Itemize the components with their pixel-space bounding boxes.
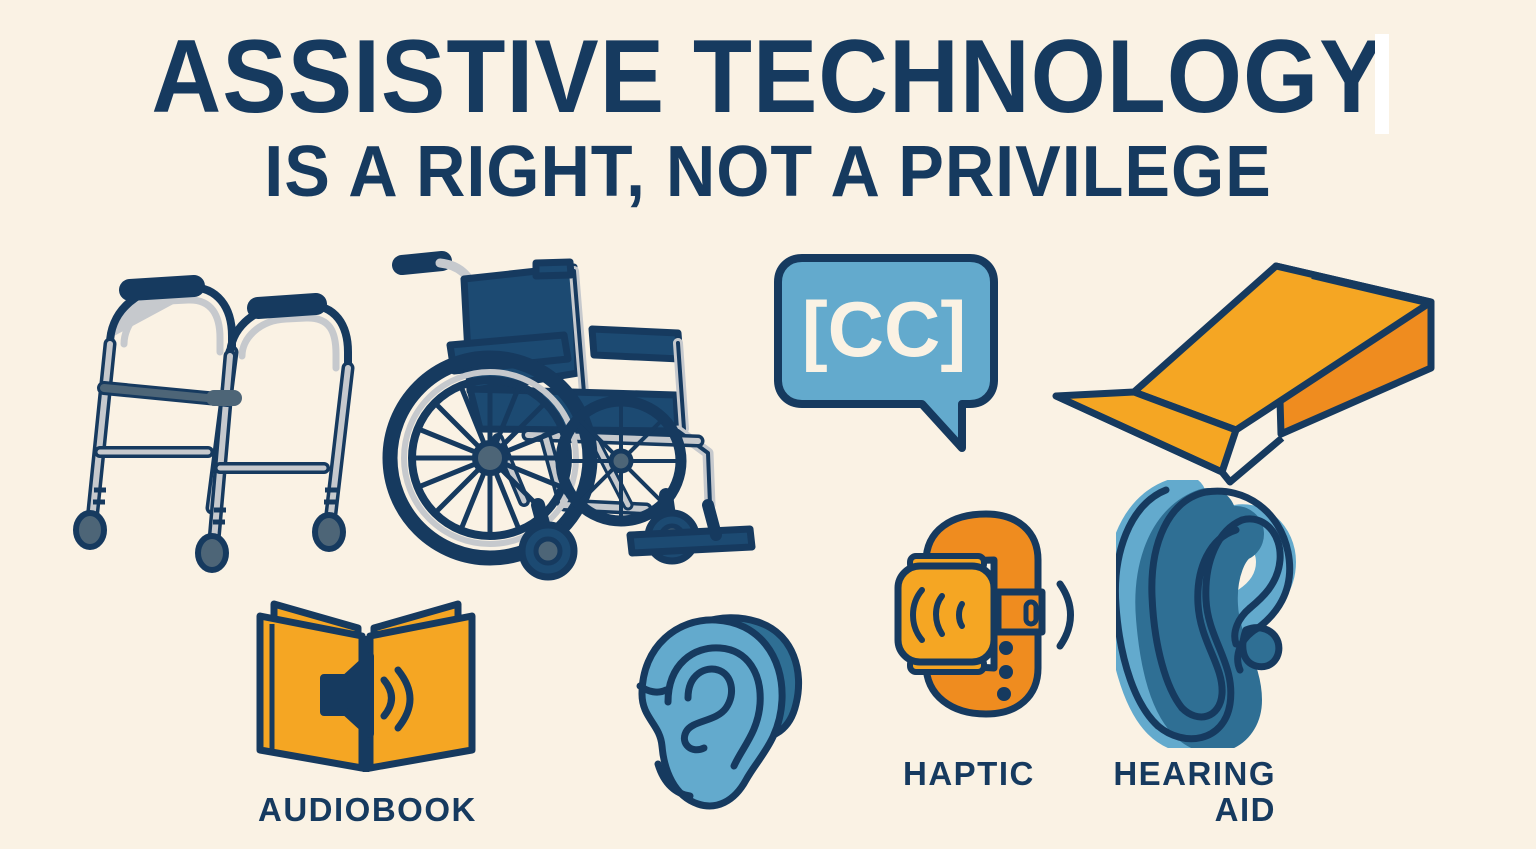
- audiobook-label: AUDIOBOOK: [258, 792, 477, 828]
- text-cursor-bar: [1375, 34, 1389, 134]
- audiobook-icon: [252, 582, 480, 782]
- wheelchair-icon: [378, 243, 778, 598]
- headline-sub-line: IS A RIGHT, NOT A PRIVILEGE: [38, 136, 1497, 208]
- closed-captions-bubble-icon: [CC]: [772, 252, 1004, 462]
- headline-main-line: ASSISTIVE TECHNOLOGY: [54, 28, 1482, 128]
- haptic-watch-icon: [890, 508, 1084, 722]
- ear-icon: [612, 608, 820, 818]
- haptic-label: HAPTIC: [903, 756, 1035, 792]
- walker-icon: [62, 240, 372, 585]
- hearing-aid-label: HEARING AID: [1108, 756, 1276, 827]
- access-ramp-icon: [1046, 252, 1460, 498]
- assistive-technology-poster: ASSISTIVE TECHNOLOGY IS A RIGHT, NOT A P…: [0, 0, 1536, 849]
- cc-badge-text: [CC]: [802, 285, 967, 373]
- headline: ASSISTIVE TECHNOLOGY IS A RIGHT, NOT A P…: [0, 28, 1536, 208]
- hearing-aid-icon: [1116, 480, 1316, 748]
